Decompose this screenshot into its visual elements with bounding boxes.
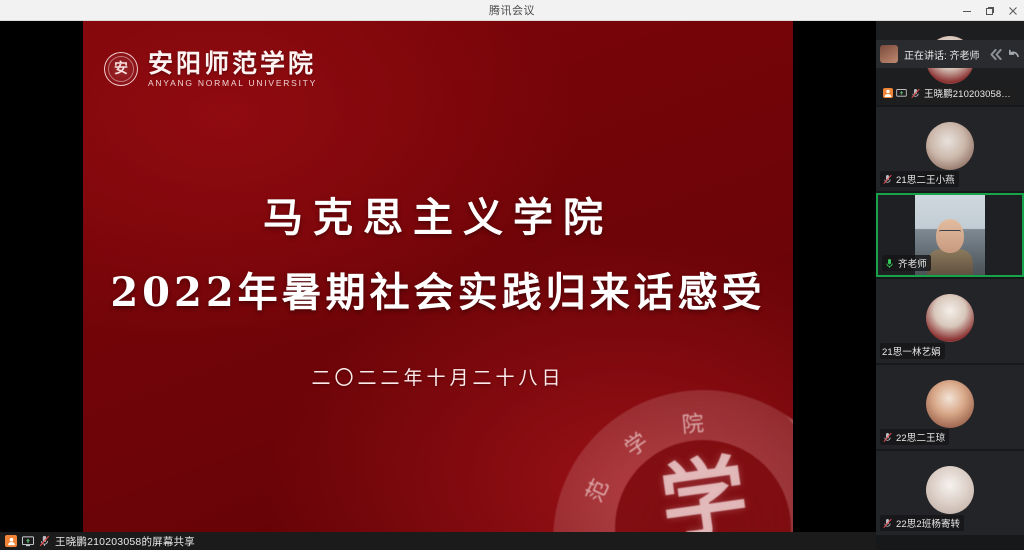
participants-badge-icon [5,535,17,547]
tile-label: 22思二王琼 [880,429,949,445]
slide-date: 二〇二二年十月二十八日 [83,363,793,390]
mic-off-icon [39,535,50,547]
tile-label: 齐老师 [882,255,931,271]
screen-share-owner-label: 王晓鹏210203058的屏幕共享 [55,534,195,549]
avatar [926,380,974,428]
arrow-icon[interactable] [1006,47,1020,61]
mic-off-icon [882,518,893,529]
participant-name: 齐老师 [898,256,927,270]
presentation-slide: 安阳师范学院 学 1908 安 安阳师范学院 ANYANG NORMAL UNI… [83,21,793,550]
mic-off-icon [882,174,893,185]
tile-label: 22思2班杨寄转 [880,515,964,531]
screen-share-status-bar: 王晓鹏210203058的屏幕共享 [0,532,876,550]
participant-tiles-list: 王晓鹏210203058的屏幕共享 21思二王小燕 [876,16,1024,550]
mic-off-icon [910,88,921,99]
participant-name: 22思2班杨寄转 [896,516,960,530]
currently-speaking-label: 正在讲话: 齐老师 [904,47,983,62]
slide-text-block: 马克思主义学院 2022年暑期社会实践归来话感受 二〇二二年十月二十八日 [83,189,793,390]
participant-tile[interactable]: 21思二王小燕 [876,107,1024,191]
slide-heading-secondary: 2022年暑期社会实践归来话感受 [83,263,793,323]
screen-share-icon [22,536,34,547]
mic-on-icon [884,258,895,269]
tile-label: 21思二王小燕 [880,171,959,187]
university-logo: 安 安阳师范学院 ANYANG NORMAL UNIVERSITY [104,50,317,88]
window-title: 腾讯会议 [489,2,535,18]
title-bar: 腾讯会议 [0,0,1024,21]
participant-tile[interactable]: 22思2班杨寄转 [876,451,1024,535]
seal-ring-char: 学 [617,424,653,463]
participants-sidebar: 王晓鹏210203058的屏幕共享 21思二王小燕 [876,21,1024,550]
logo-name-en: ANYANG NORMAL UNIVERSITY [148,78,317,88]
mic-off-icon [882,432,893,443]
participant-tile[interactable]: 21思一林艺娟 [876,279,1024,363]
shared-screen-stage[interactable]: 安阳师范学院 学 1908 安 安阳师范学院 ANYANG NORMAL UNI… [0,21,876,550]
participant-tile[interactable]: 22思二王琼 [876,365,1024,449]
video-person-head [936,219,964,253]
logo-seal-glyph: 安 [114,62,128,76]
participant-tile-active-speaker[interactable]: 齐老师 [876,193,1024,277]
screen-share-icon [896,88,907,99]
logo-seal-icon: 安 [104,52,138,86]
tile-label: 21思一林艺娟 [880,343,945,359]
currently-speaking-banner[interactable]: 正在讲话: 齐老师 [876,40,1024,68]
university-seal-watermark: 安阳师范学院 学 1908 [553,390,793,550]
avatar [926,466,974,514]
avatar [926,122,974,170]
participant-name: 21思二王小燕 [896,172,955,186]
participant-name: 22思二王琼 [896,430,945,444]
avatar [926,294,974,342]
participant-name: 王晓鹏210203058的屏幕共享 [924,86,1014,100]
avatar [880,45,898,63]
tencent-meeting-window: 腾讯会议 安阳师范学院 学 1908 安 [0,0,1024,550]
logo-text-block: 安阳师范学院 ANYANG NORMAL UNIVERSITY [148,50,317,88]
logo-name-cn: 安阳师范学院 [148,50,317,77]
participant-name: 21思一林艺娟 [882,344,941,358]
participants-badge-icon [882,88,893,99]
double-chevron-icon[interactable] [989,47,1003,61]
banner-controls [989,47,1020,61]
video-person-glasses [939,230,961,235]
slide-heading-primary: 马克思主义学院 [83,189,793,247]
seal-ring-char: 范 [577,473,615,506]
tile-label: 王晓鹏210203058的屏幕共享 [880,85,1018,101]
